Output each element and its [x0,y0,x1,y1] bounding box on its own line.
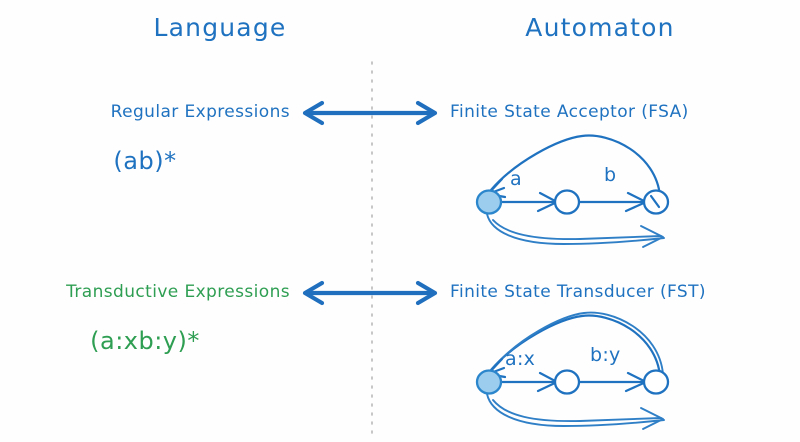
exit-arrow-fst [487,394,664,429]
transition-q0-to-q1-fst [502,373,557,391]
diagram-canvas: Language Automaton Regular Expressions (… [0,0,800,442]
language-label-regular: Regular Expressions [0,102,290,122]
state-q2-fst [644,371,668,394]
exit-arrow-fsa [487,214,664,247]
transition-q1-to-q2-fsa [580,193,646,211]
state-q1-fsa [555,191,579,214]
edge-label-by-fst: b:y [590,344,621,366]
automaton-title-fsa: Finite State Acceptor (FSA) [450,102,689,122]
equivalence-arrow-regular [298,96,443,132]
state-q0-start-fst [477,371,501,394]
language-label-transductive: Transductive Expressions [0,282,290,302]
automaton-graph-fsa [460,128,710,253]
state-q0-start-fsa [477,191,501,214]
expression-regular: (ab)* [0,147,290,175]
equivalence-arrow-transductive [298,276,443,312]
automaton-title-fst: Finite State Transducer (FST) [450,282,706,302]
transition-q0-to-q1-fsa [502,193,557,211]
transition-q1-to-q2-fst [580,373,646,391]
edge-label-b-fsa: b [604,164,616,186]
edge-label-a-fsa: a [510,168,522,190]
automaton-graph-fst [460,308,710,438]
state-q1-fst [555,371,579,394]
expression-transductive: (a:xb:y)* [0,327,290,355]
edge-label-ax-fst: a:x [505,348,535,370]
